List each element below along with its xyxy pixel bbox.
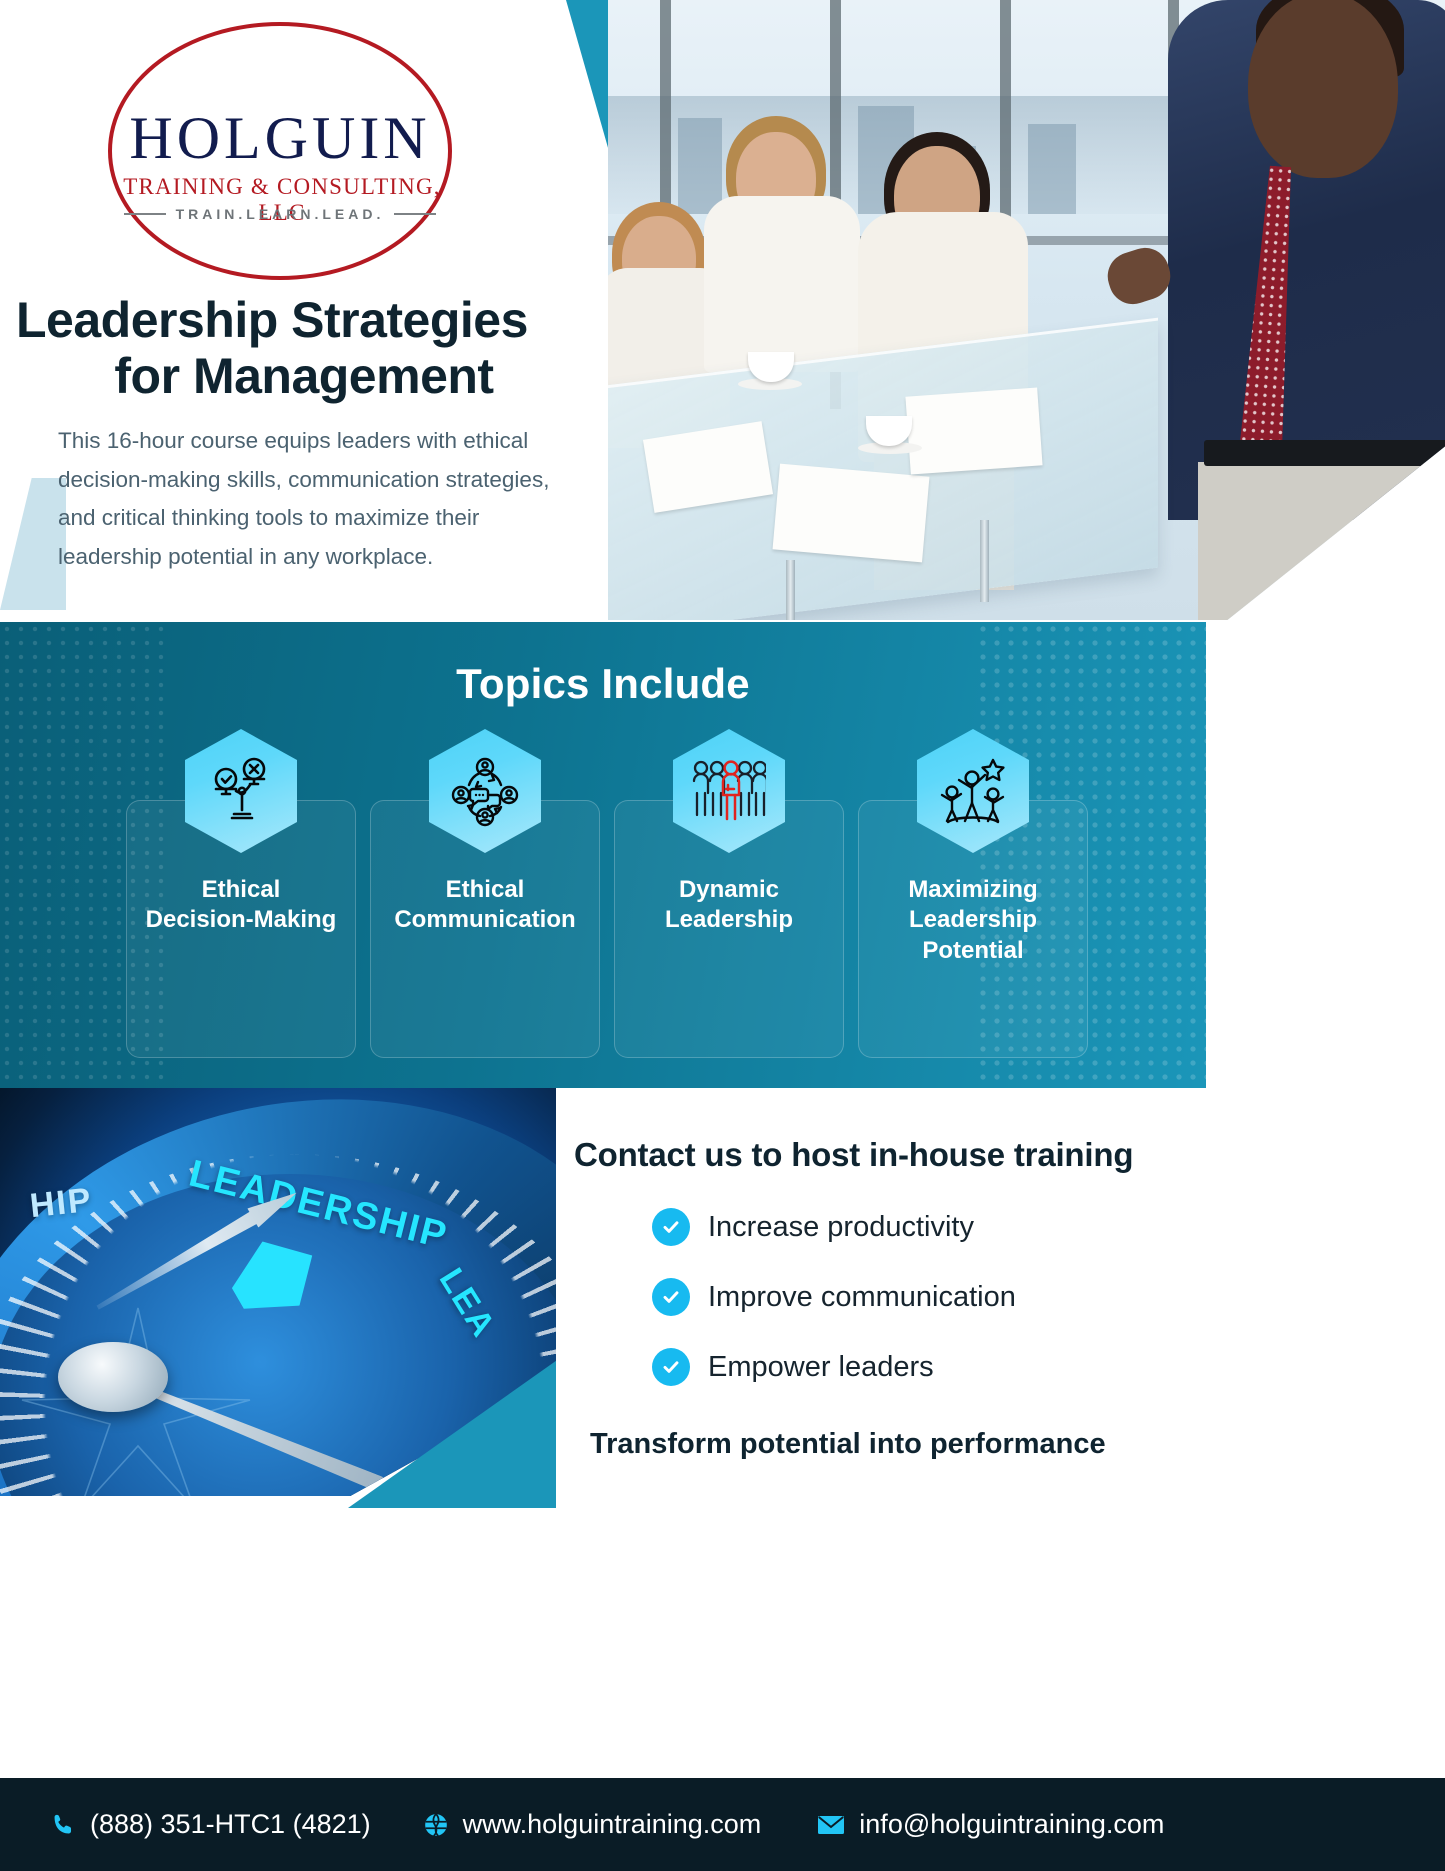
topic-card-label-3: Dynamic Leadership xyxy=(623,875,835,936)
person-man-trousers xyxy=(1198,462,1445,620)
footer-bar: (888) 351-HTC1 (4821) www.holguintrainin… xyxy=(0,1778,1445,1871)
footer-phone[interactable]: (888) 351-HTC1 (4821) xyxy=(50,1809,371,1840)
footer-email[interactable]: info@holguintraining.com xyxy=(817,1809,1164,1840)
benefit-label: Increase productivity xyxy=(708,1211,974,1244)
compass-word-left: HIP xyxy=(28,1181,94,1226)
topic-card-dynamic-leadership[interactable]: Dynamic Leadership xyxy=(614,800,844,1058)
person-seated-center-body xyxy=(704,196,860,372)
page-title-line2: for Management xyxy=(16,348,592,404)
paper-document xyxy=(773,464,930,563)
hero-description: This 16-hour course equips leaders with … xyxy=(58,422,558,577)
table-leg xyxy=(786,560,795,620)
topic-icon-hex-3 xyxy=(673,729,785,853)
page-title-line1: Leadership Strategies xyxy=(16,292,528,348)
topics-card-list: Ethical Decision-Making xyxy=(126,800,1088,1058)
contact-heading: Contact us to host in-house training xyxy=(574,1136,1424,1174)
list-item: Empower leaders xyxy=(652,1348,1016,1386)
hero-photo xyxy=(608,0,1445,620)
people-reaching-star-icon xyxy=(936,756,1010,826)
list-item: Increase productivity xyxy=(652,1208,1016,1246)
benefits-list: Increase productivity Improve communicat… xyxy=(652,1208,1016,1418)
topic-card-maximizing-leadership-potential[interactable]: Maximizing Leadership Potential xyxy=(858,800,1088,1058)
page-title: Leadership Strategies for Management xyxy=(16,292,592,404)
topic-icon-hex-4 xyxy=(917,729,1029,853)
check-circle-icon xyxy=(652,1348,690,1386)
logo-company-name: HOLGUIN xyxy=(108,104,452,173)
table-leg xyxy=(980,520,989,602)
topic-label-line1: Ethical xyxy=(202,876,281,903)
compass-pivot xyxy=(58,1342,168,1412)
benefit-label: Improve communication xyxy=(708,1281,1016,1314)
topics-section: Topics Include xyxy=(0,622,1206,1088)
topic-label-line1: Dynamic xyxy=(679,876,779,903)
footer-website-text: www.holguintraining.com xyxy=(463,1809,762,1840)
footer-website[interactable]: www.holguintraining.com xyxy=(423,1809,762,1840)
people-communication-cycle-icon xyxy=(449,755,521,827)
topic-card-label-1: Ethical Decision-Making xyxy=(135,875,347,936)
globe-icon xyxy=(423,1812,449,1838)
topic-label-line1: Ethical xyxy=(446,876,525,903)
topic-label-line3: Potential xyxy=(922,937,1023,964)
logo-tagline-row: TRAIN.LEARN.LEAD. xyxy=(108,206,452,222)
list-item: Improve communication xyxy=(652,1278,1016,1316)
topic-label-line2: Decision-Making xyxy=(146,906,337,933)
footer-email-text: info@holguintraining.com xyxy=(859,1809,1164,1840)
topic-icon-hex-2 xyxy=(429,729,541,853)
logo-rule-right xyxy=(394,213,436,215)
envelope-icon xyxy=(817,1814,845,1836)
topic-icon-hex-1 xyxy=(185,729,297,853)
check-circle-icon xyxy=(652,1208,690,1246)
person-man-head xyxy=(1248,0,1398,178)
leader-in-crowd-icon xyxy=(692,759,766,823)
topics-heading: Topics Include xyxy=(0,660,1206,708)
logo-tagline: TRAIN.LEARN.LEAD. xyxy=(176,206,385,222)
topic-label-line2: Leadership xyxy=(909,906,1037,933)
person-man-belt xyxy=(1204,440,1445,466)
contact-tagline: Transform potential into performance xyxy=(590,1428,1106,1461)
topic-label-line2: Communication xyxy=(394,906,575,933)
contact-section: Contact us to host in-house training Inc… xyxy=(556,1088,1445,1758)
topic-label-line1: Maximizing xyxy=(908,876,1037,903)
topic-card-ethical-decision-making[interactable]: Ethical Decision-Making xyxy=(126,800,356,1058)
logo-rule-left xyxy=(124,213,166,215)
topic-label-line2: Leadership xyxy=(665,906,793,933)
paper-document xyxy=(905,387,1042,474)
phone-icon xyxy=(50,1812,76,1838)
check-circle-icon xyxy=(652,1278,690,1316)
topic-card-label-4: Maximizing Leadership Potential xyxy=(867,875,1079,966)
balance-scale-decision-icon xyxy=(206,756,276,826)
footer-phone-text: (888) 351-HTC1 (4821) xyxy=(90,1809,371,1840)
benefit-label: Empower leaders xyxy=(708,1351,934,1384)
left-blue-accent-decoration xyxy=(0,478,66,610)
topic-card-label-2: Ethical Communication xyxy=(379,875,591,936)
company-logo: HOLGUIN TRAINING & CONSULTING, LLC TRAIN… xyxy=(108,22,468,284)
topic-card-ethical-communication[interactable]: Ethical Communication xyxy=(370,800,600,1058)
